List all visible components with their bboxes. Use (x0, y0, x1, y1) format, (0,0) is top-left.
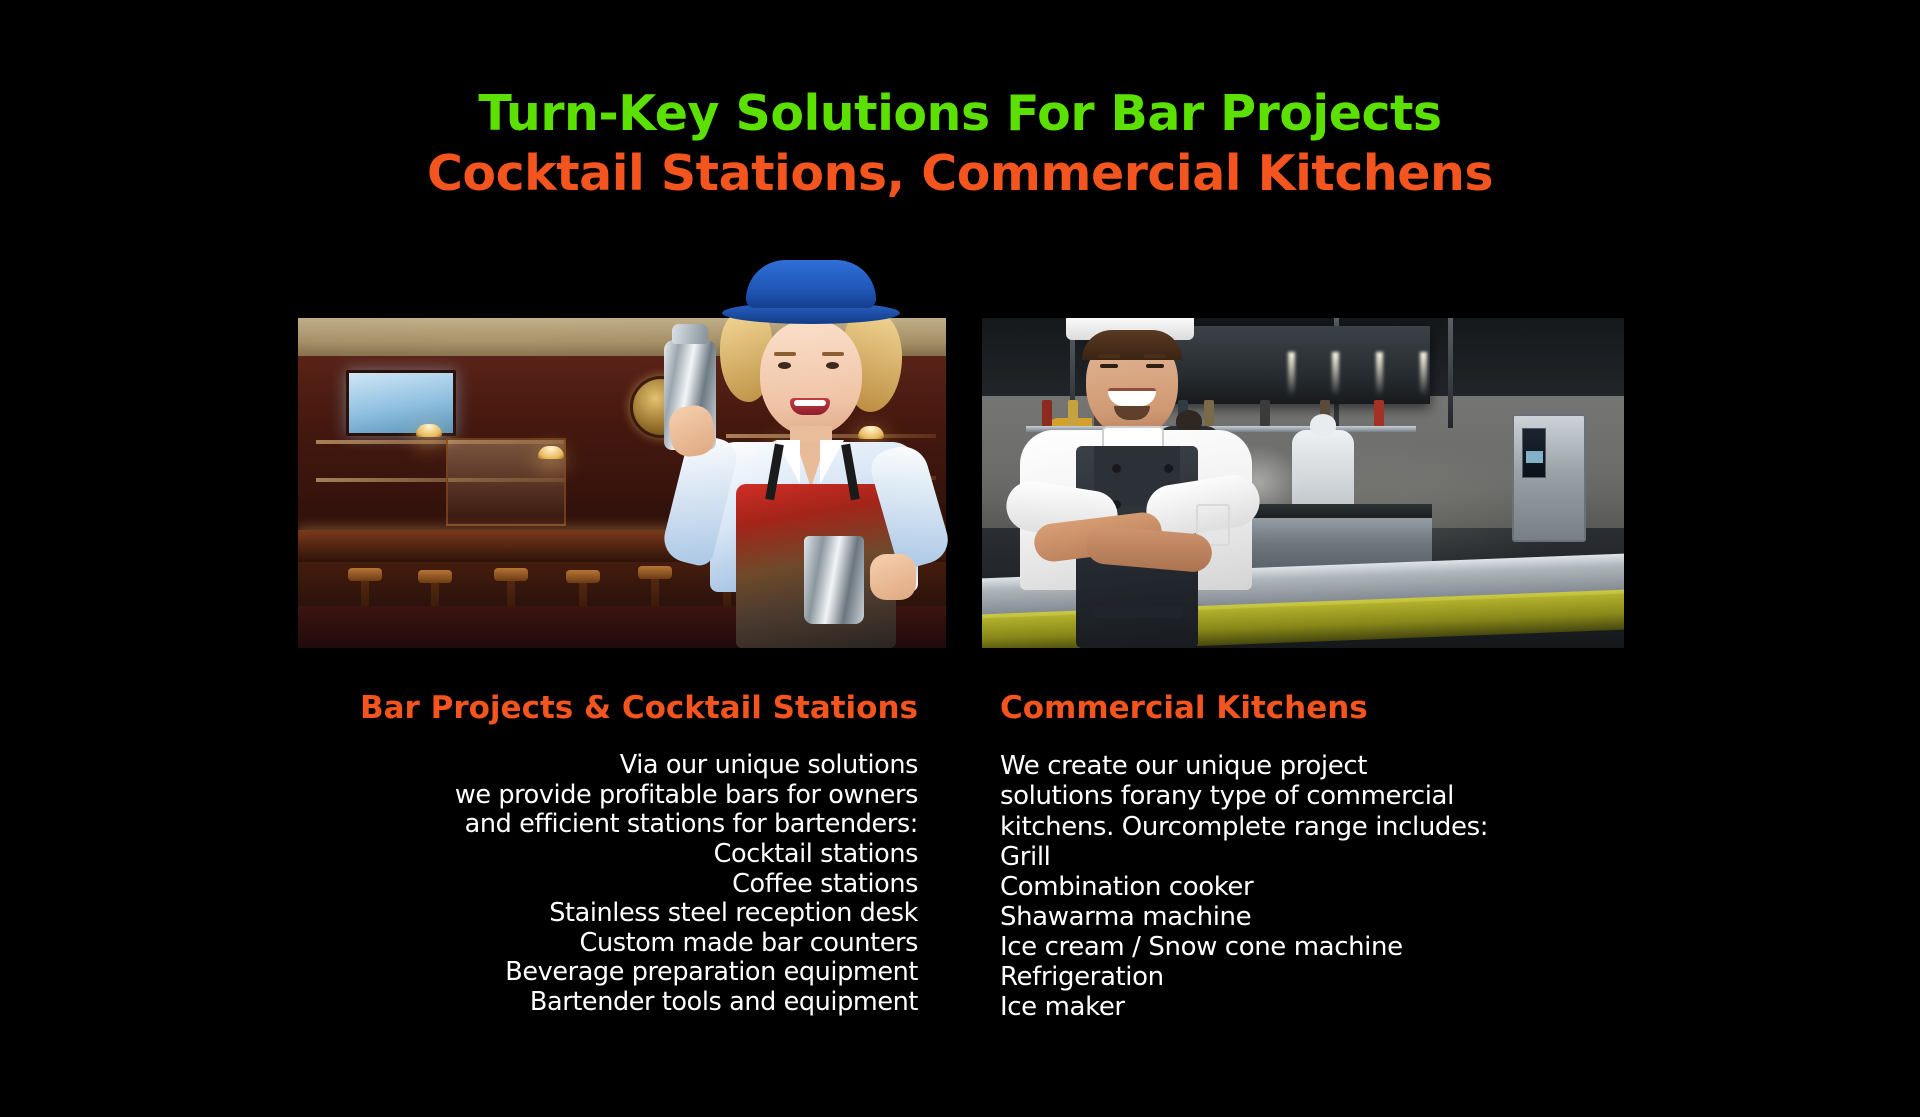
list-item: we provide profitable bars for owners (298, 781, 918, 811)
bartender-eyebrow (822, 352, 844, 356)
hood-light (1376, 352, 1383, 396)
list-item: Grill (1000, 842, 1620, 872)
list-item: Ice cream / Snow cone machine (1000, 932, 1620, 962)
bartender-right-hand (870, 554, 916, 600)
list-item: Stainless steel reception desk (298, 899, 918, 929)
column-body-kitchens: We create our unique project solutions f… (1000, 751, 1620, 1022)
list-item: Custom made bar counters (298, 929, 918, 959)
image-band (298, 318, 1624, 648)
bartender-eye (778, 362, 791, 369)
chef-apron-tie (1092, 606, 1184, 618)
list-item: solutions forany type of commercial (1000, 781, 1620, 811)
list-item: Shawarma machine (1000, 902, 1620, 932)
chef-coat-button (1112, 464, 1121, 473)
combi-oven (1512, 414, 1586, 542)
oven-control-panel (1522, 428, 1546, 478)
chef-hair (1082, 330, 1182, 360)
mixing-tin-icon (804, 536, 864, 624)
chef-coat-button (1164, 464, 1173, 473)
hanging-cable (1448, 318, 1453, 428)
bartender-illustration (648, 318, 948, 648)
chef-eye (1100, 364, 1118, 368)
bar-lamp-icon (416, 424, 442, 437)
bartender-eyebrow (774, 352, 796, 356)
hood-light (1332, 352, 1339, 396)
bar-lamp-icon (538, 446, 564, 459)
bartender-hat-icon (746, 260, 876, 308)
list-item: Cocktail stations (298, 840, 918, 870)
chef-eye (1146, 364, 1164, 368)
hood-light (1288, 352, 1295, 396)
title-line-2: Cocktail Stations, Commercial Kitchens (0, 148, 1920, 200)
title-line-1: Turn-Key Solutions For Bar Projects (0, 88, 1920, 140)
kitchen-image-panel (982, 318, 1624, 648)
list-item: Beverage preparation equipment (298, 958, 918, 988)
chef-smile (1108, 388, 1156, 406)
cook-head (1310, 414, 1336, 436)
column-heading-bar: Bar Projects & Cocktail Stations (298, 690, 918, 727)
list-item: Bartender tools and equipment (298, 988, 918, 1018)
chef-illustration (1000, 318, 1272, 648)
bartender-eye (826, 362, 839, 369)
column-commercial-kitchens: Commercial Kitchens We create our unique… (1000, 690, 1620, 1023)
hood-light (1420, 352, 1427, 396)
title-block: Turn-Key Solutions For Bar Projects Cock… (0, 88, 1920, 200)
list-item: Ice maker (1000, 992, 1620, 1022)
bartender-smile (790, 398, 830, 415)
list-item: We create our unique project (1000, 751, 1620, 781)
list-item: Combination cooker (1000, 872, 1620, 902)
list-item: Via our unique solutions (298, 751, 918, 781)
chef-eyebrow (1098, 354, 1120, 358)
shelf-bottle (1374, 400, 1384, 426)
slide-root: Turn-Key Solutions For Bar Projects Cock… (0, 0, 1920, 1117)
column-bar-projects: Bar Projects & Cocktail Stations Via our… (298, 690, 918, 1017)
bartender-face (760, 320, 862, 436)
column-body-bar: Via our unique solutions we provide prof… (298, 751, 918, 1017)
column-heading-kitchens: Commercial Kitchens (1000, 690, 1620, 727)
chef-eyebrow (1144, 354, 1166, 358)
list-item: kitchens. Ourcomplete range includes: (1000, 812, 1620, 842)
list-item: and efficient stations for bartenders: (298, 810, 918, 840)
list-item: Coffee stations (298, 870, 918, 900)
bartender-collar (820, 440, 844, 484)
list-item: Refrigeration (1000, 962, 1620, 992)
tv-screen-icon (346, 370, 456, 436)
